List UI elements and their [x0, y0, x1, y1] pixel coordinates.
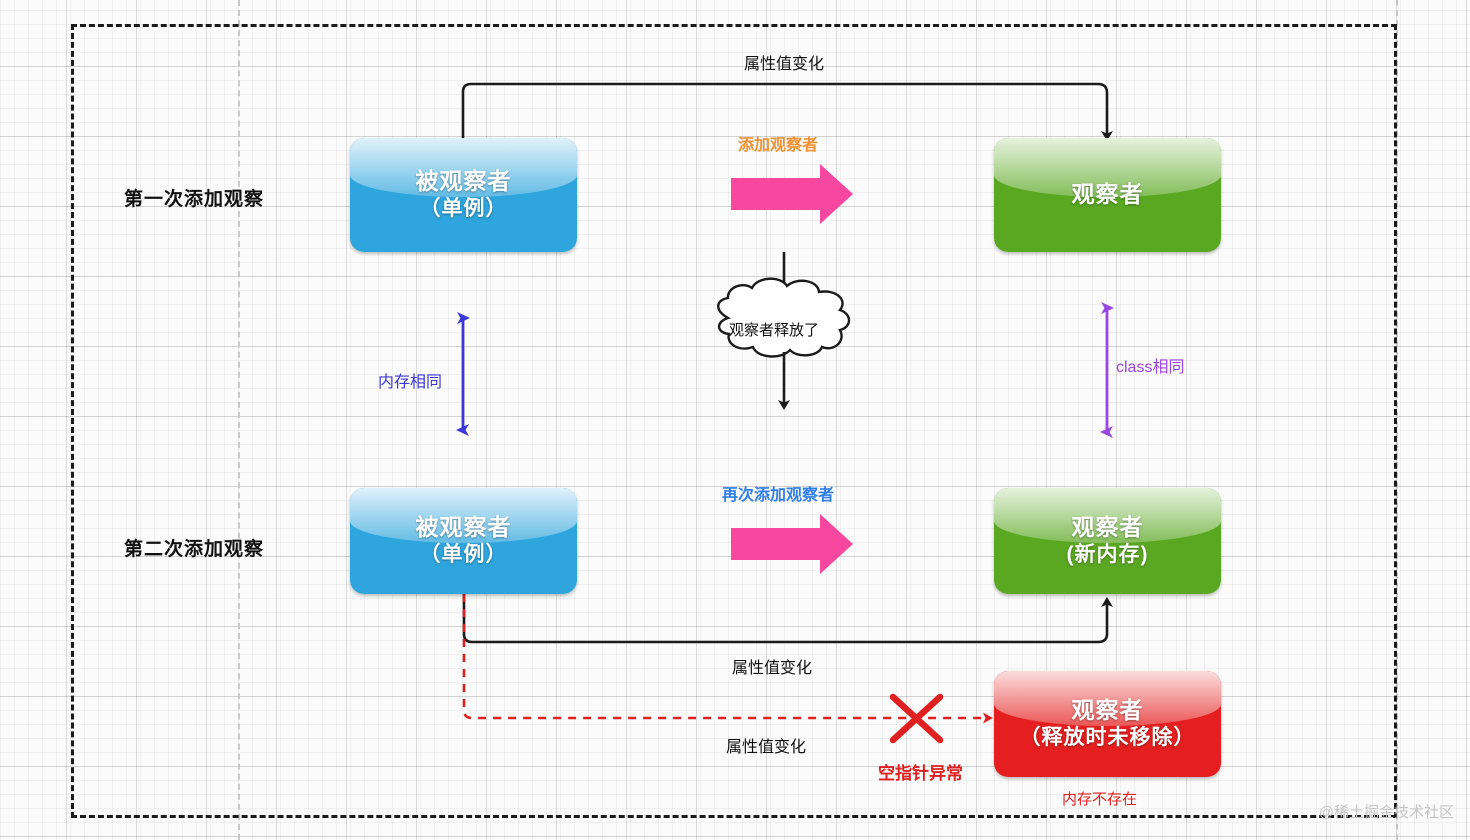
caption-memory-same: 内存相同 — [378, 368, 442, 392]
arrow-attr-change-mid — [464, 594, 1107, 642]
node-subtitle: (新内存) — [1067, 543, 1149, 568]
node-title: 观察者 — [1072, 181, 1144, 208]
node-subject-second[interactable]: 被观察者 （单例） — [350, 488, 577, 594]
node-title: 被观察者 — [416, 514, 512, 541]
arrow-attr-change-bottom-broken — [464, 594, 988, 718]
caption-attr-change-bottom: 属性值变化 — [726, 733, 806, 757]
node-subtitle: （单例） — [420, 543, 508, 568]
row-label-first: 第一次添加观察 — [124, 184, 264, 211]
connector-layer — [0, 0, 1470, 840]
guide-line-right — [1396, 0, 1398, 840]
diagram-canvas: 第一次添加观察 第二次添加观察 被观察者 （单例） 观察者 被观察者 （单例） … — [0, 0, 1470, 840]
node-subtitle: （释放时未移除） — [1020, 726, 1196, 751]
caption-attr-change-top: 属性值变化 — [744, 50, 824, 74]
node-observer-released[interactable]: 观察者 （释放时未移除） — [994, 671, 1221, 777]
node-observer-new-memory[interactable]: 观察者 (新内存) — [994, 488, 1221, 594]
caption-class-same: class相同 — [1116, 353, 1184, 377]
node-subject-first[interactable]: 被观察者 （单例） — [350, 138, 577, 252]
x-mark-icon — [893, 697, 940, 740]
guide-line-left — [238, 0, 240, 840]
caption-memory-gone: 内存不存在 — [1062, 788, 1137, 809]
caption-add-observer: 添加观察者 — [738, 131, 818, 155]
caption-observer-released: 观察者释放了 — [729, 319, 819, 340]
pink-arrow-row2 — [731, 514, 853, 574]
node-observer-first[interactable]: 观察者 — [994, 138, 1221, 252]
pink-arrow-row1 — [731, 164, 853, 224]
node-title: 观察者 — [1072, 514, 1144, 541]
node-title: 被观察者 — [416, 168, 512, 195]
cloud-shape — [718, 279, 849, 357]
node-subtitle: （单例） — [420, 197, 508, 222]
watermark: @稀土掘金技术社区 — [1319, 801, 1454, 822]
arrow-attr-change-top — [463, 84, 1107, 138]
caption-attr-change-mid: 属性值变化 — [732, 654, 812, 678]
row-label-second: 第二次添加观察 — [124, 534, 264, 561]
node-title: 观察者 — [1072, 697, 1144, 724]
caption-null-pointer: 空指针异常 — [878, 759, 963, 784]
caption-add-observer-again: 再次添加观察者 — [722, 481, 834, 505]
